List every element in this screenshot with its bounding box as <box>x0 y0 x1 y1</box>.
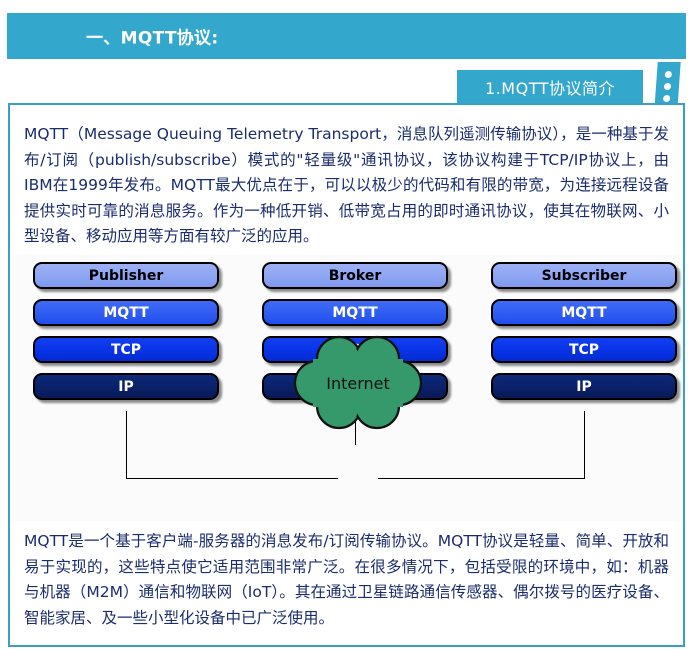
connector-publisher-vertical <box>126 411 127 478</box>
layer-publisher: Publisher <box>33 262 219 289</box>
section-badge[interactable]: 1.MQTT协议简介 <box>457 70 643 103</box>
layer-label: IP <box>118 379 133 395</box>
layer-label: MQTT <box>561 305 606 321</box>
layer-label: TCP <box>569 342 599 358</box>
layer-publisher-ip: IP <box>33 373 219 400</box>
layer-publisher-tcp: TCP <box>33 336 219 363</box>
internet-cloud: Internet <box>293 335 423 431</box>
stack-column-subscriber: Subscriber MQTT TCP IP <box>491 262 677 400</box>
connector-subscriber-horizontal <box>378 478 585 479</box>
section-badge-label: 1.MQTT协议简介 <box>485 75 615 99</box>
layer-subscriber-tcp: TCP <box>491 336 677 363</box>
connector-publisher-horizontal <box>126 478 338 479</box>
layer-label: Broker <box>329 268 382 284</box>
page-title: 一、MQTT协议: <box>86 24 218 49</box>
intro-paragraph: MQTT（Message Queuing Telemetry Transport… <box>24 122 669 250</box>
dot-1 <box>665 71 672 78</box>
layer-label: TCP <box>111 342 141 358</box>
summary-paragraph: MQTT是一个基于客户端-服务器的消息发布/订阅传输协议。MQTT协议是轻量、简… <box>24 529 669 631</box>
layer-label: Subscriber <box>542 268 627 284</box>
layer-label: MQTT <box>103 305 148 321</box>
layer-subscriber-ip: IP <box>491 373 677 400</box>
layer-label: Publisher <box>89 268 164 284</box>
layer-subscriber-mqtt: MQTT <box>491 299 677 326</box>
content-panel: MQTT（Message Queuing Telemetry Transport… <box>8 103 685 647</box>
section-badge-row: 1.MQTT协议简介 <box>0 70 693 103</box>
layer-label: MQTT <box>332 305 377 321</box>
page-header-bar: 一、MQTT协议: <box>7 13 686 59</box>
dot-2 <box>664 83 671 90</box>
mqtt-architecture-diagram: Publisher MQTT TCP IP Broker MQTT TCP <box>10 255 683 521</box>
cloud-shape-icon <box>293 335 423 431</box>
layer-broker-mqtt: MQTT <box>262 299 448 326</box>
connector-subscriber-vertical <box>584 411 585 478</box>
dot-3 <box>663 95 670 102</box>
layer-publisher-mqtt: MQTT <box>33 299 219 326</box>
layer-broker: Broker <box>262 262 448 289</box>
layer-label: IP <box>576 379 591 395</box>
stack-column-publisher: Publisher MQTT TCP IP <box>33 262 219 400</box>
layer-subscriber: Subscriber <box>491 262 677 289</box>
